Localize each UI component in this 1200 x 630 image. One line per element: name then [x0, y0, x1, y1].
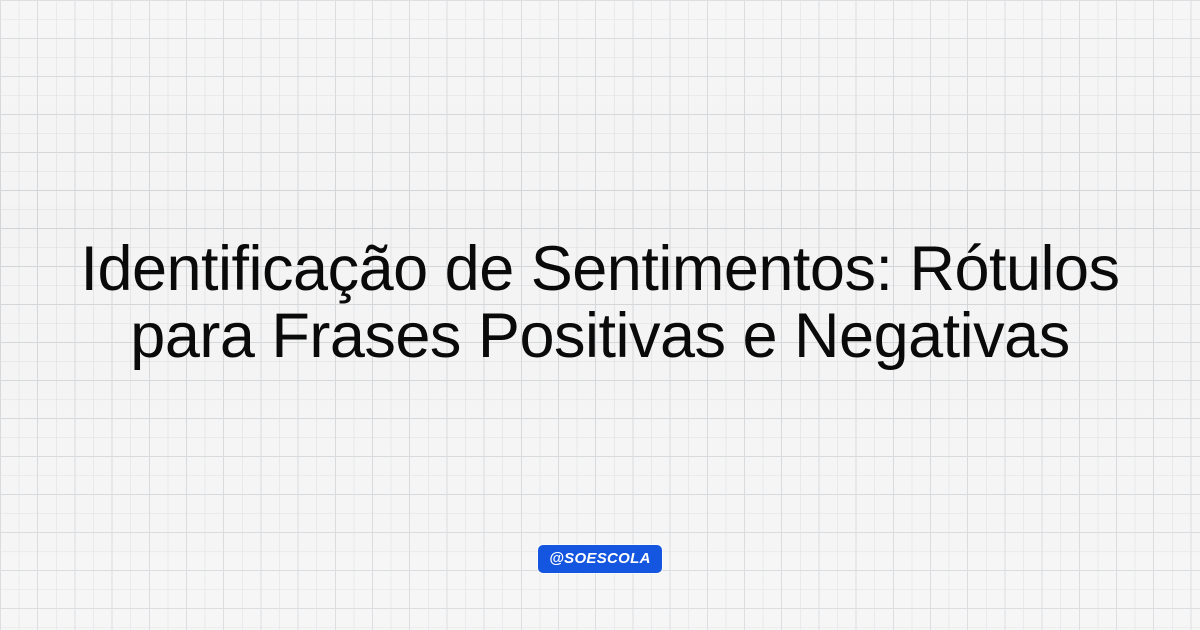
social-handle-badge: @SOESCOLA — [538, 545, 662, 573]
handle-badge-container: @SOESCOLA — [0, 545, 1200, 573]
page-title: Identificação de Sentimentos: Rótulos pa… — [35, 236, 1165, 371]
share-card: Identificação de Sentimentos: Rótulos pa… — [0, 0, 1200, 630]
title-container: Identificação de Sentimentos: Rótulos pa… — [0, 236, 1200, 371]
